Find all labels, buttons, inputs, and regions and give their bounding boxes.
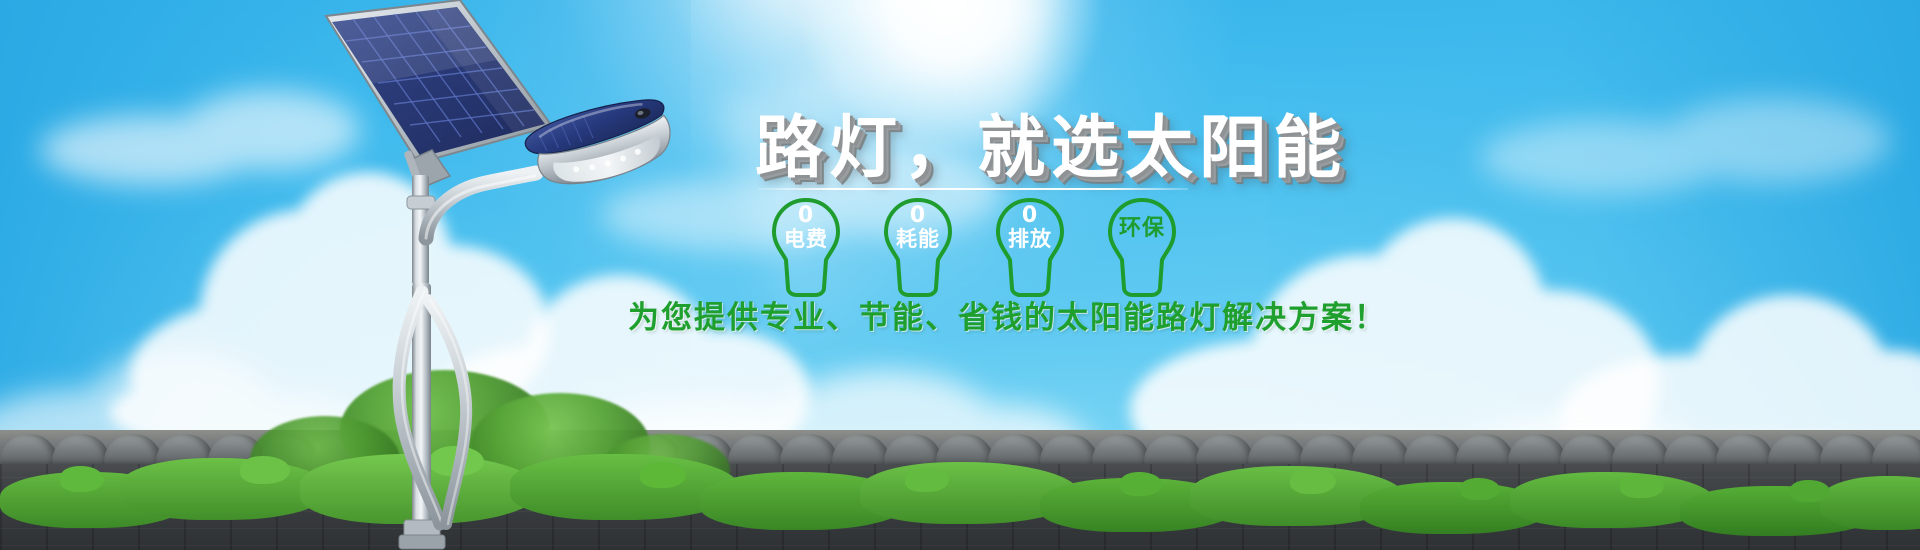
banner-subtitle: 为您提供专业、节能、省钱的太阳能路灯解决方案！ — [628, 292, 1387, 337]
badge-label: 环保 — [1098, 216, 1186, 241]
badge-label-group: 0 电费 — [762, 204, 850, 251]
feature-badge-haoneng: 0 耗能 — [874, 196, 962, 300]
badge-label: 排放 — [986, 228, 1074, 251]
feature-badge-paifang: 0 排放 — [986, 196, 1074, 300]
badge-label-group: 0 耗能 — [874, 204, 962, 251]
badge-label: 耗能 — [874, 228, 962, 251]
banner-headline: 路灯，就选太阳能 — [755, 92, 1347, 191]
badge-zero: 0 — [986, 204, 1074, 228]
headline-divider — [758, 188, 1188, 190]
badge-zero: 0 — [874, 204, 962, 228]
banner-content: 路灯，就选太阳能 0 电费 0 耗能 — [0, 0, 1920, 550]
feature-badge-list: 0 电费 0 耗能 0 排放 — [762, 196, 1186, 300]
badge-label: 电费 — [762, 228, 850, 251]
solar-street-light-banner: 路灯，就选太阳能 0 电费 0 耗能 — [0, 0, 1920, 550]
feature-badge-huanbao: 环保 — [1098, 196, 1186, 300]
badge-label-group: 环保 — [1098, 216, 1186, 241]
badge-label-group: 0 排放 — [986, 204, 1074, 251]
bulb-outline-icon — [1098, 196, 1186, 300]
badge-zero: 0 — [762, 204, 850, 228]
feature-badge-dianfei: 0 电费 — [762, 196, 850, 300]
